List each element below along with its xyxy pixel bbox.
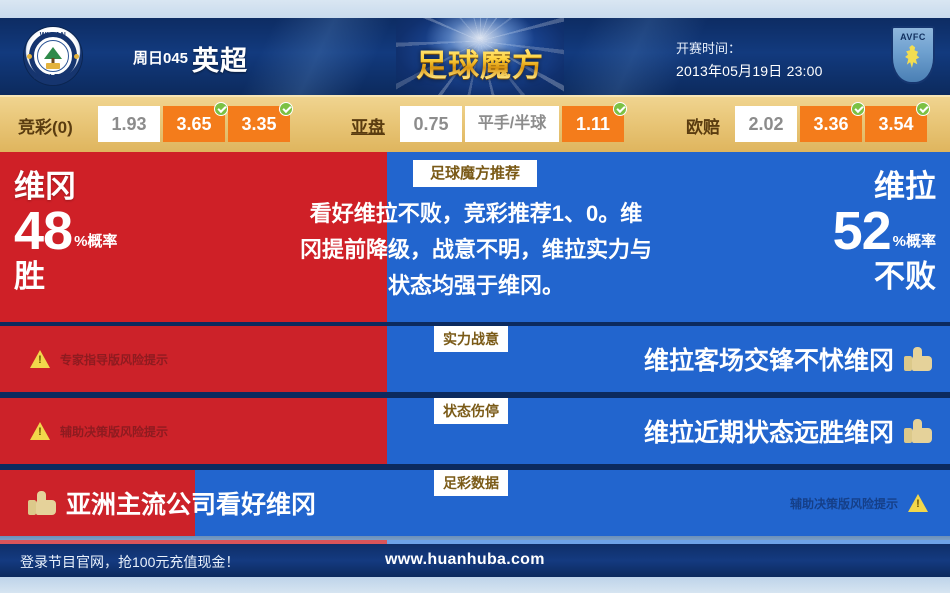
verdict-text: 亚洲主流公司看好维冈 (66, 485, 316, 521)
odds-group-label-1: 亚盘 (351, 113, 385, 138)
risk-notice-left: 专家指导版风险提示 (30, 350, 168, 368)
promo-text: 登录节目官网，抢100元充值现金！ (20, 552, 239, 572)
away-probability-row: 52 %概率 (766, 206, 936, 256)
risk-notice-text: 专家指导版风险提示 (60, 351, 168, 368)
wigan-athletic-crest-icon: WIGAN ATHLETIC (24, 27, 82, 85)
thumbs-up-icon (904, 347, 932, 371)
away-prediction: 维拉 52 %概率 不败 (766, 170, 936, 294)
odds-cell[interactable]: 3.54 (865, 106, 927, 142)
crest-bottom-text: ATHLETIC (24, 74, 82, 81)
thumbs-up-icon (904, 419, 932, 443)
crest-top-text: WIGAN (24, 32, 82, 39)
verdict-text: 维拉近期状态远胜维冈 (644, 413, 894, 449)
aston-villa-crest-icon: AVFC (891, 26, 935, 84)
footer-bar: 登录节目官网，抢100元充值现金！ www.huanhuba.com (0, 544, 950, 577)
crest-pip-right (74, 54, 79, 59)
odds-cell[interactable]: 平手/半球 (465, 106, 559, 142)
verdict-text: 维拉客场交锋不怵维冈 (644, 341, 894, 377)
odds-cell[interactable]: 3.65 (163, 106, 225, 142)
home-prediction: 维冈 48 %概率 胜 (14, 170, 174, 294)
home-probability-value: 48 (14, 206, 72, 256)
crest-pip-left (27, 54, 32, 59)
verdict-right: 维拉近期状态远胜维冈 (644, 413, 932, 449)
prediction-panel: 足球魔方推荐 维冈 48 %概率 胜 看好维拉不败，竞彩推荐1、0。维冈提前降级… (0, 152, 950, 322)
odds-group-label-2: 欧赔 (686, 113, 720, 138)
comparison-rows: 实力战意专家指导版风险提示维拉客场交锋不怵维冈状态伤停辅助决策版风险提示维拉近期… (0, 326, 950, 542)
odds-cell[interactable]: 3.36 (800, 106, 862, 142)
comparison-row: 实力战意专家指导版风险提示维拉客场交锋不怵维冈 (0, 326, 950, 392)
check-icon (916, 102, 930, 116)
row-category-tab: 状态伤停 (434, 398, 508, 424)
recommendation-line: 冈提前降级，战意不明，维拉实力与 (236, 232, 716, 268)
kickoff-value: 2013年05月19日 23:00 (676, 61, 823, 81)
home-probability-suffix: %概率 (74, 230, 117, 256)
row-category-tab: 实力战意 (434, 326, 508, 352)
lion-icon (904, 45, 922, 69)
odds-group-label-0: 竞彩(0) (18, 113, 73, 138)
brand-logo: 足球魔方 (396, 18, 564, 95)
odds-cell[interactable]: 1.11 (562, 106, 624, 142)
odds-cell[interactable]: 1.93 (98, 106, 160, 142)
brand-logo-text: 足球魔方 (396, 40, 564, 85)
website-url[interactable]: www.huanhuba.com (385, 551, 545, 569)
verdict-right: 维拉客场交锋不怵维冈 (644, 341, 932, 377)
home-team-name: 维冈 (14, 170, 174, 204)
row-category-tab: 足彩数据 (434, 470, 508, 496)
check-icon (851, 102, 865, 116)
away-probability-value: 52 (833, 206, 891, 256)
odds-cell[interactable]: 3.35 (228, 106, 290, 142)
crown-icon (46, 63, 60, 69)
crest-inner-disc (37, 40, 69, 72)
recommendation-line: 状态均强于维冈。 (236, 268, 716, 304)
away-team-name: 维拉 (766, 170, 936, 204)
warning-triangle-icon (30, 422, 50, 440)
kickoff-label: 开赛时间： (676, 38, 741, 57)
away-probability-suffix: %概率 (893, 230, 936, 256)
risk-notice-left: 辅助决策版风险提示 (30, 422, 168, 440)
comparison-row: 足彩数据亚洲主流公司看好维冈辅助决策版风险提示 (0, 470, 950, 536)
away-outcome-label: 不败 (766, 260, 936, 294)
warning-triangle-icon (30, 350, 50, 368)
home-probability-row: 48 %概率 (14, 206, 174, 256)
odds-bar: 竞彩(0)1.933.653.35亚盘0.75平手/半球1.11欧赔2.023.… (0, 95, 950, 152)
home-outcome-label: 胜 (14, 260, 174, 294)
recommendation-line: 看好维拉不败，竞彩推荐1、0。维 (236, 196, 716, 232)
comparison-row: 状态伤停辅助决策版风险提示维拉近期状态远胜维冈 (0, 398, 950, 464)
odds-cell[interactable]: 0.75 (400, 106, 462, 142)
league-name: 英超 (192, 39, 248, 78)
risk-notice-text: 辅助决策版风险提示 (790, 495, 898, 512)
thumbs-up-icon (28, 491, 56, 515)
check-icon (613, 102, 627, 116)
risk-notice-text: 辅助决策版风险提示 (60, 423, 168, 440)
warning-triangle-icon (908, 494, 928, 512)
check-icon (214, 102, 228, 116)
recommendation-tab: 足球魔方推荐 (413, 160, 537, 187)
match-round: 周日045 (133, 47, 188, 68)
broadcast-graphic: WIGAN ATHLETIC 周日045 英超 足球魔方 开赛时间： 2013年… (0, 0, 950, 593)
risk-notice-right: 辅助决策版风险提示 (790, 494, 928, 512)
odds-cell[interactable]: 2.02 (735, 106, 797, 142)
recommendation-text: 看好维拉不败，竞彩推荐1、0。维冈提前降级，战意不明，维拉实力与状态均强于维冈。 (236, 196, 716, 304)
verdict-left: 亚洲主流公司看好维冈 (28, 485, 316, 521)
crest-avfc-text: AVFC (893, 32, 933, 42)
check-icon (279, 102, 293, 116)
